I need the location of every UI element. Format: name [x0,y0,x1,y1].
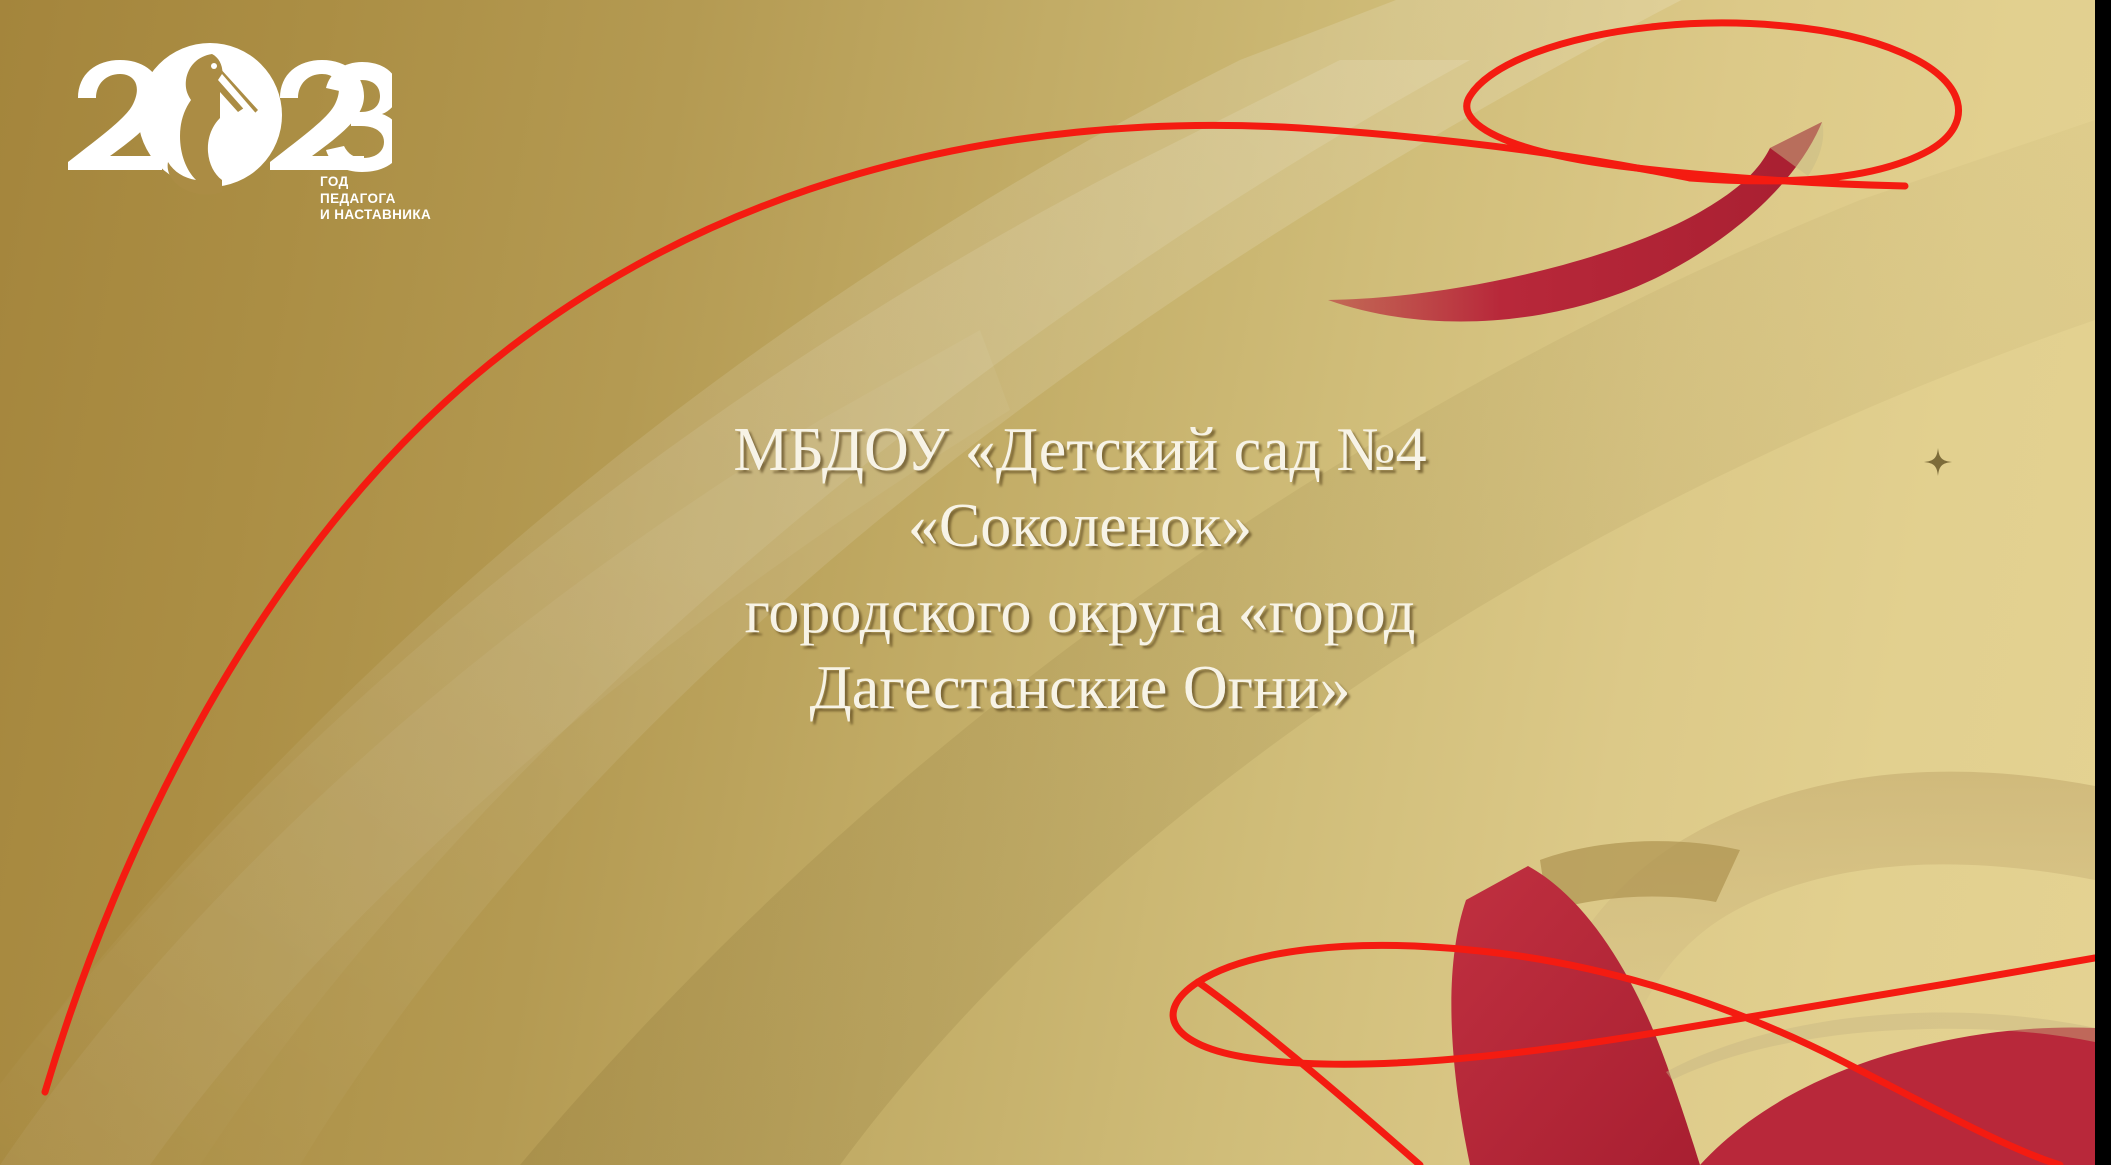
logo-caption-line-1: ГОД [320,174,440,191]
presentation-slide: ГОД ПЕДАГОГА И НАСТАВНИКА МБДОУ «Детский… [0,0,2111,1165]
title-paragraph-2: городского округа «город Дагестанские Ог… [620,574,1540,726]
right-edge-bezel [2095,0,2111,1165]
logo-caption-line-3: И НАСТАВНИКА [320,207,440,224]
logo-caption-line-2: ПЕДАГОГА [320,191,440,208]
slide-canvas: ГОД ПЕДАГОГА И НАСТАВНИКА МБДОУ «Детский… [0,0,2095,1165]
year-of-teacher-logo: ГОД ПЕДАГОГА И НАСТАВНИКА [62,22,392,232]
slide-title: МБДОУ «Детский сад №4 «Соколенок» городс… [620,412,1540,726]
four-point-star-icon [1924,448,1952,476]
title-paragraph-1: МБДОУ «Детский сад №4 «Соколенок» [620,412,1540,564]
logo-caption: ГОД ПЕДАГОГА И НАСТАВНИКА [320,174,440,224]
ribbon-bottom-right [1451,772,2095,1165]
